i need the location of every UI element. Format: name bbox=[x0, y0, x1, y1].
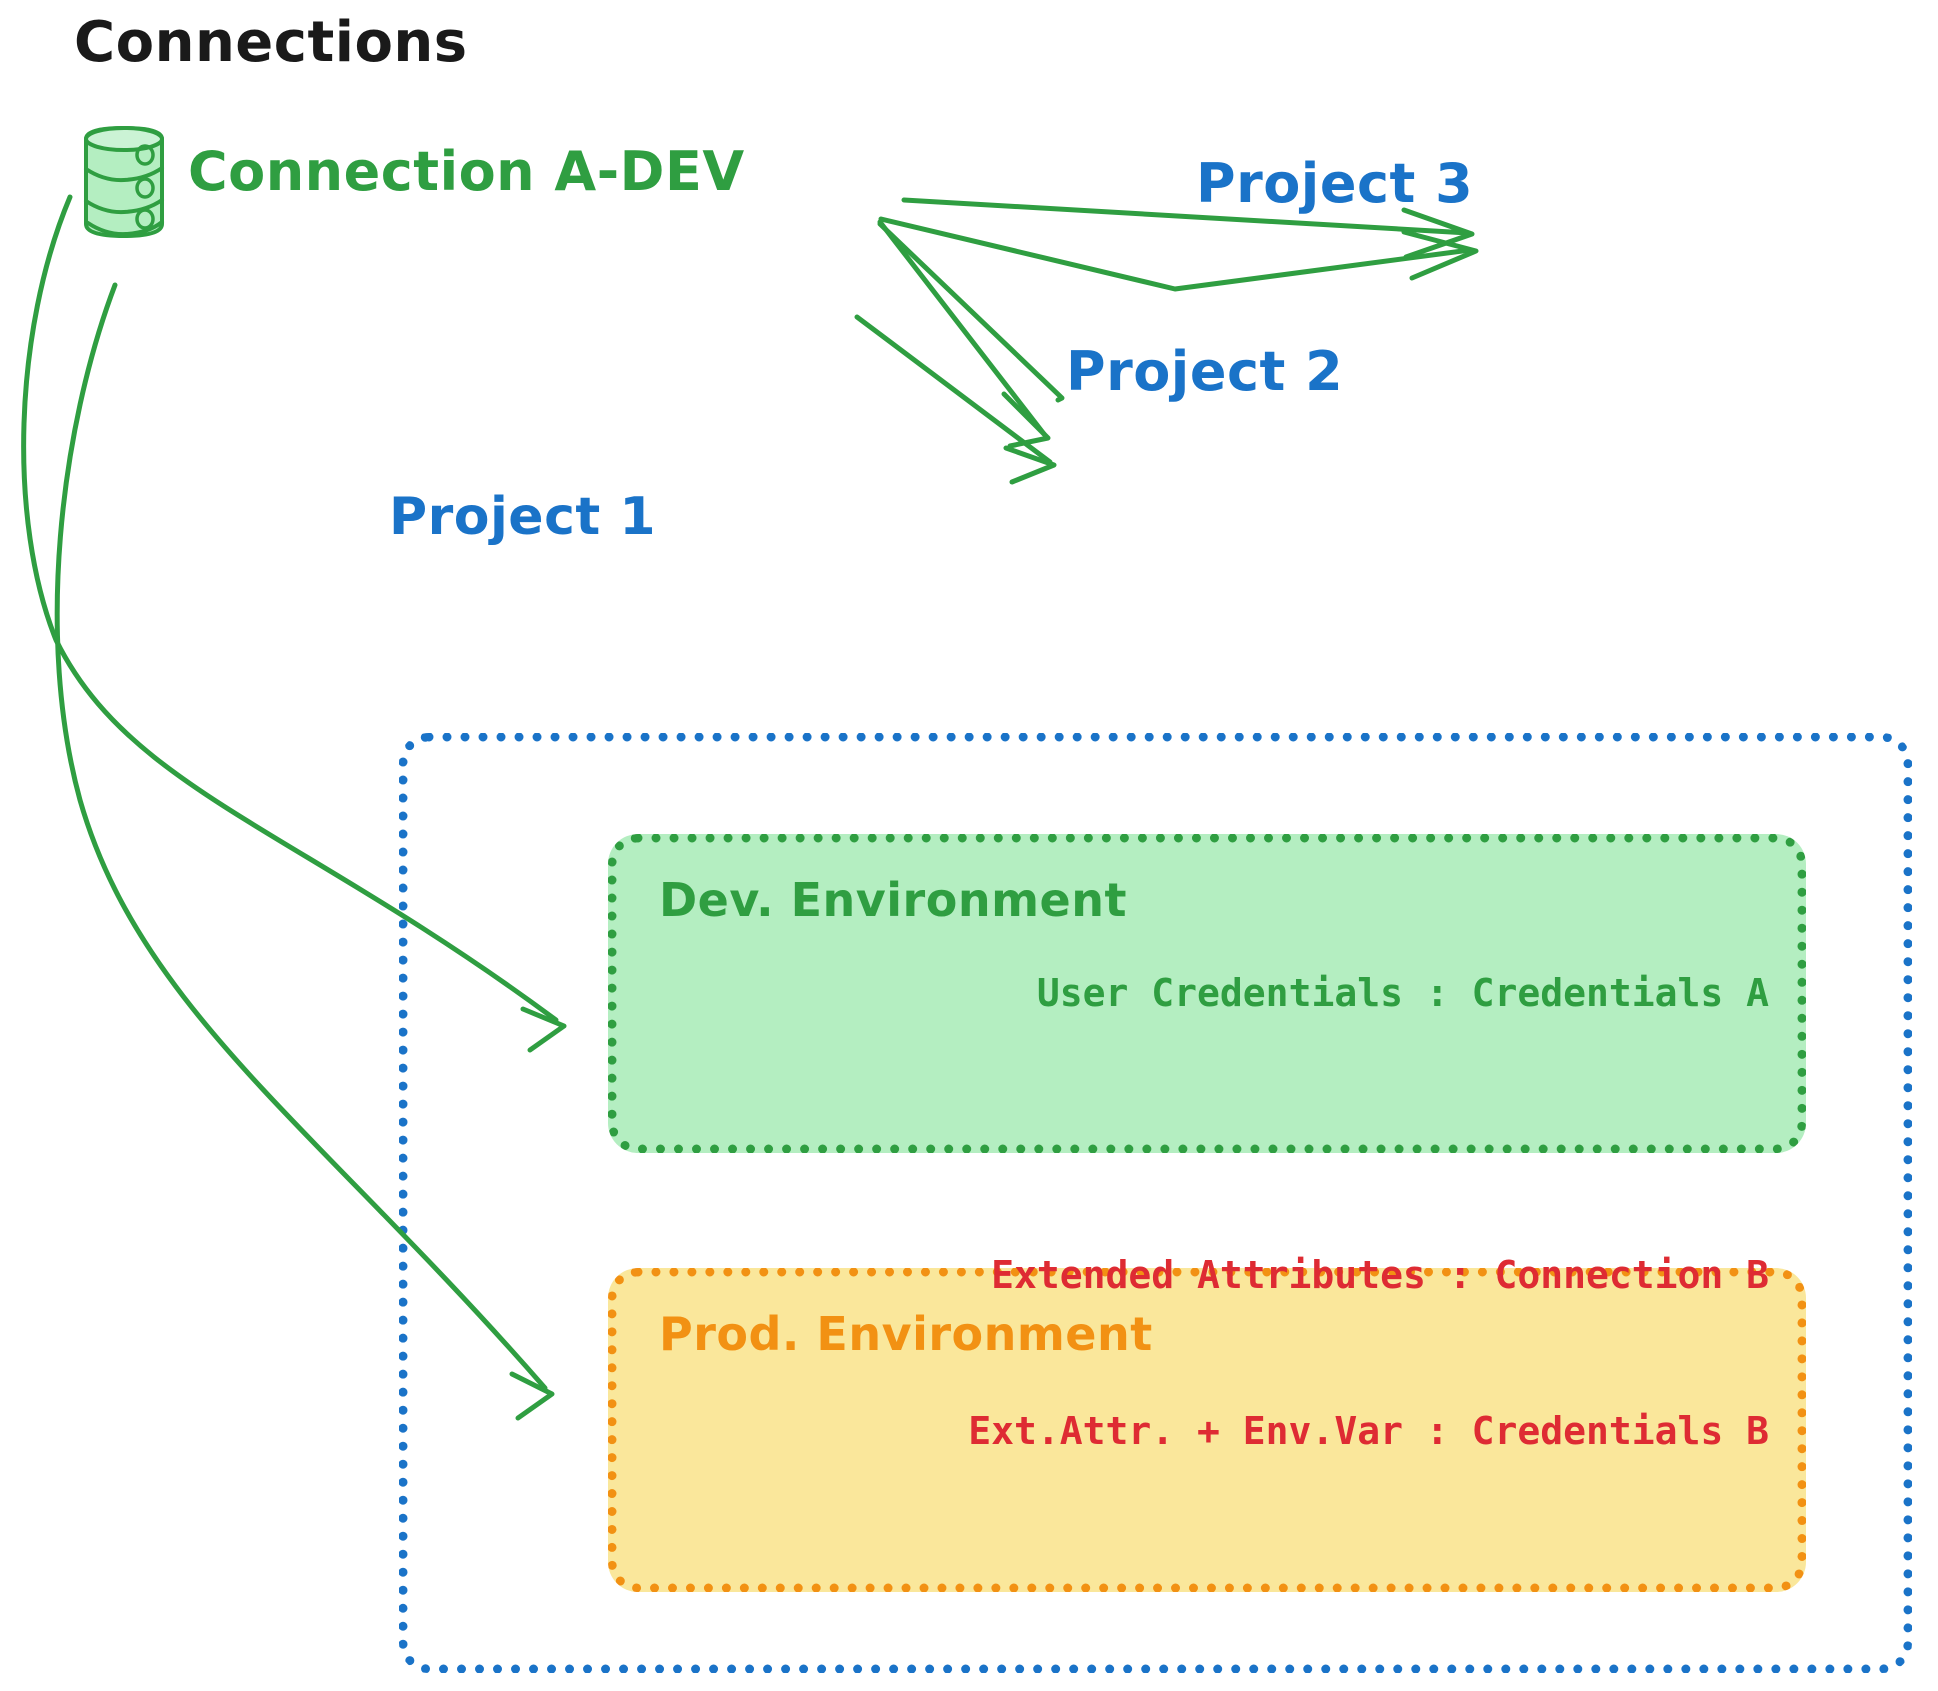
connection-a-dev-label[interactable]: Connection A-DEV bbox=[188, 140, 745, 203]
edge-adev-to-project3-b bbox=[881, 219, 1476, 289]
project-1-label[interactable]: Project 1 bbox=[389, 487, 656, 547]
page-title: Connections bbox=[74, 10, 468, 75]
project-3-label[interactable]: Project 3 bbox=[1196, 152, 1473, 215]
edge-adev-to-project2-a bbox=[880, 222, 1048, 446]
prod-environment-box[interactable]: Prod. Environment Extended Attributes : … bbox=[608, 1268, 1806, 1592]
edge-adev-to-project2-b bbox=[857, 224, 1062, 482]
prod-environment-attributes: Extended Attributes : Connection B Ext.A… bbox=[968, 1145, 1769, 1561]
diagram-canvas: Connections Connection A-DEV Project 3 P… bbox=[0, 0, 1938, 1691]
prod-attribute-line-1: Extended Attributes : Connection B bbox=[968, 1249, 1769, 1301]
dev-environment-box[interactable]: Dev. Environment User Credentials : Cred… bbox=[608, 834, 1806, 1153]
project-2-label[interactable]: Project 2 bbox=[1066, 340, 1343, 403]
database-icon bbox=[78, 123, 170, 241]
dev-environment-attributes: User Credentials : Credentials A bbox=[1037, 868, 1769, 1118]
prod-attribute-line-2: Ext.Attr. + Env.Var : Credentials B bbox=[968, 1405, 1769, 1457]
dev-attribute-line: User Credentials : Credentials A bbox=[1037, 968, 1769, 1018]
